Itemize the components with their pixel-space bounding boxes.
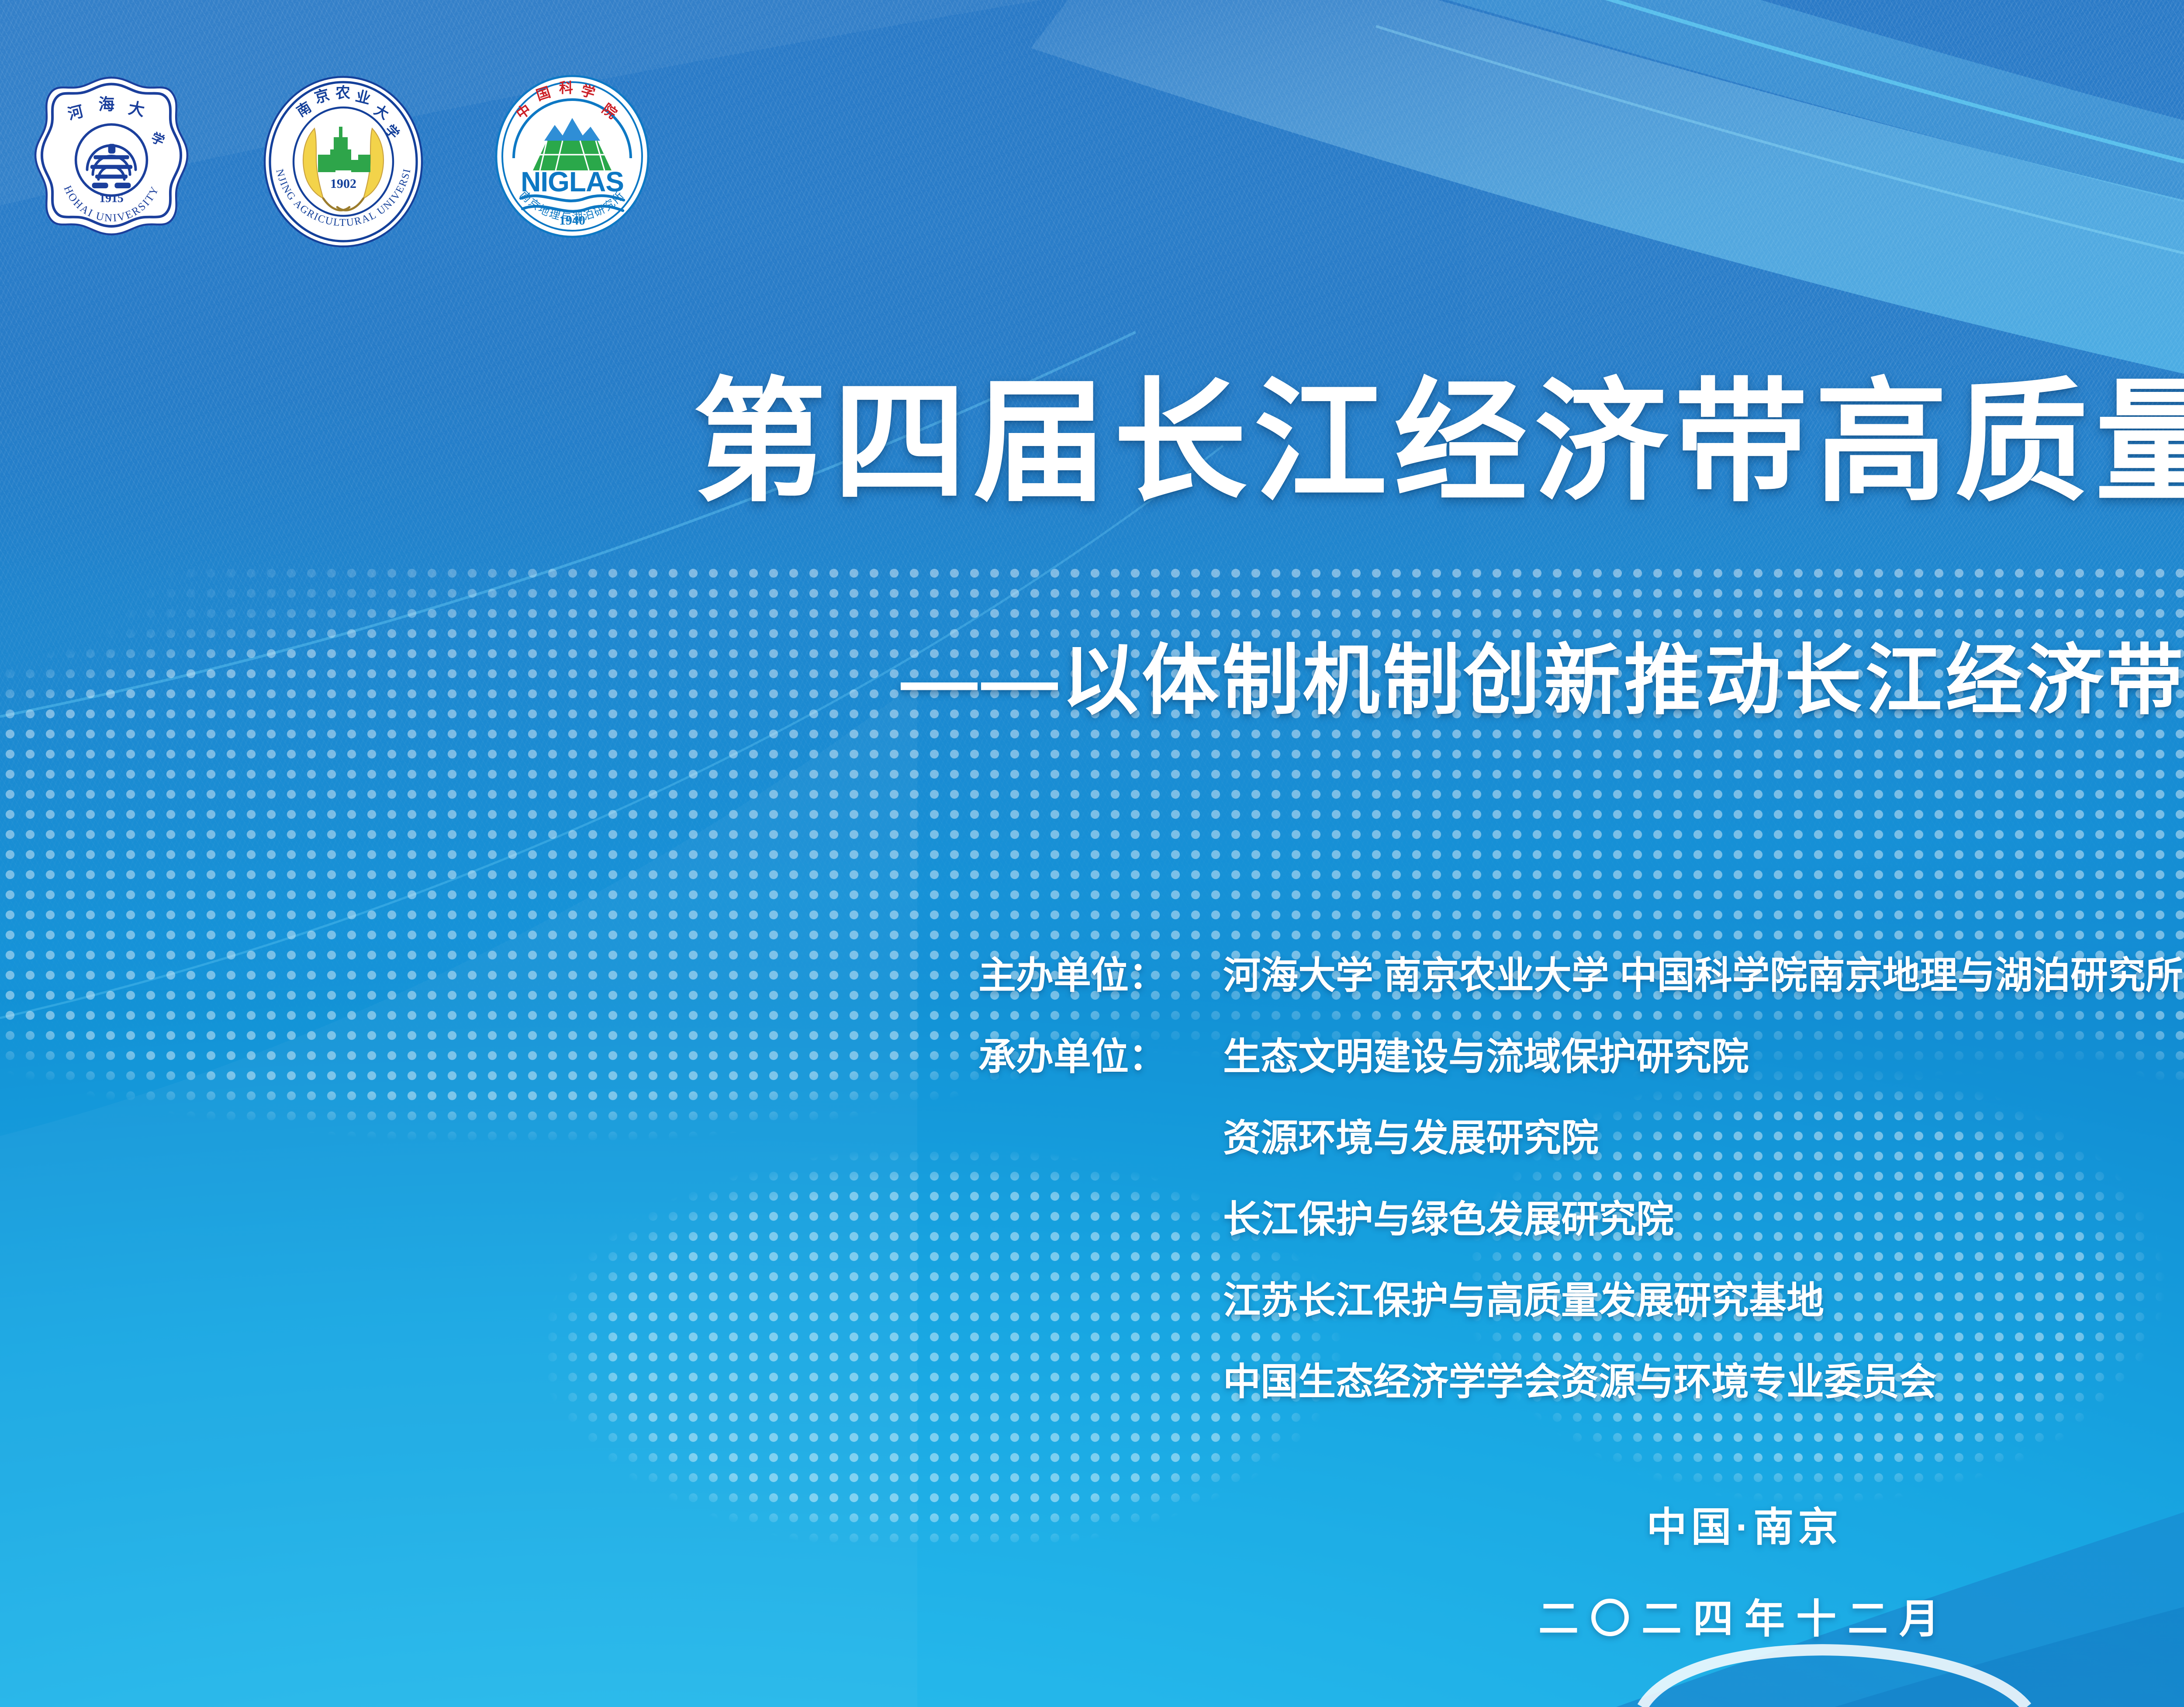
hohai-year: 1915 (99, 192, 124, 205)
organizer-label: 承办单位： (978, 1038, 1223, 1076)
organizer-label: 主办单位： (978, 957, 1223, 994)
svg-text:海: 海 (98, 96, 114, 114)
hohai-university-logo: 河 海 大 学 1915 HOHAI UNIVERSITY (31, 74, 192, 251)
organizer-row: 承办单位： 长江保护与绿色发展研究院 (978, 1201, 2183, 1238)
event-location: 中国·南京 (0, 1507, 2184, 1548)
organizer-value: 河海大学 南京农业大学 中国科学院南京地理与湖泊研究所 (1223, 957, 2183, 994)
event-date: 二〇二四年十二月 (0, 1599, 2184, 1639)
organizer-row: 承办单位： 中国生态经济学学会资源与环境专业委员会 (978, 1363, 2183, 1401)
organizer-list: 主办单位： 河海大学 南京农业大学 中国科学院南京地理与湖泊研究所 承办单位： … (978, 957, 2183, 1401)
organizer-value: 资源环境与发展研究院 (1223, 1119, 1599, 1157)
svg-text:大: 大 (127, 99, 146, 120)
organizer-value: 江苏长江保护与高质量发展研究基地 (1223, 1282, 1824, 1319)
organizer-value: 长江保护与绿色发展研究院 (1223, 1201, 1674, 1238)
organizer-value: 中国生态经济学学会资源与环境专业委员会 (1223, 1363, 1937, 1401)
organizer-row: 承办单位： 生态文明建设与流域保护研究院 (978, 1038, 2183, 1076)
nanjing-agricultural-university-logo: 南 京 农 业 大 学 (262, 74, 425, 251)
organizer-row: 承办单位： 资源环境与发展研究院 (978, 1119, 2183, 1157)
banner-title: 第四届长江经济带高质量发展论坛 (0, 376, 2184, 509)
conference-banner: 河 海 大 学 1915 HOHAI UNIVERSITY 南 (0, 0, 2184, 1707)
logo-row: 河 海 大 学 1915 HOHAI UNIVERSITY 南 (31, 74, 650, 251)
banner-footer: 中国·南京 二〇二四年十二月 (0, 1507, 2184, 1639)
banner-subtitle: ——以体制机制创新推动长江经济带高质量发展 (0, 642, 2184, 719)
organizer-row: 承办单位： 江苏长江保护与高质量发展研究基地 (978, 1282, 2183, 1319)
svg-text:农: 农 (335, 85, 350, 101)
niglas-logo: 中 国 科 学 院 NIGLAS 1940 (494, 74, 650, 241)
svg-text:科: 科 (559, 80, 573, 96)
svg-text:NIGLAS: NIGLAS (521, 166, 624, 197)
svg-text:1902: 1902 (330, 177, 356, 191)
organizer-row: 主办单位： 河海大学 南京农业大学 中国科学院南京地理与湖泊研究所 (978, 957, 2183, 994)
organizer-value: 生态文明建设与流域保护研究院 (1223, 1038, 1749, 1076)
